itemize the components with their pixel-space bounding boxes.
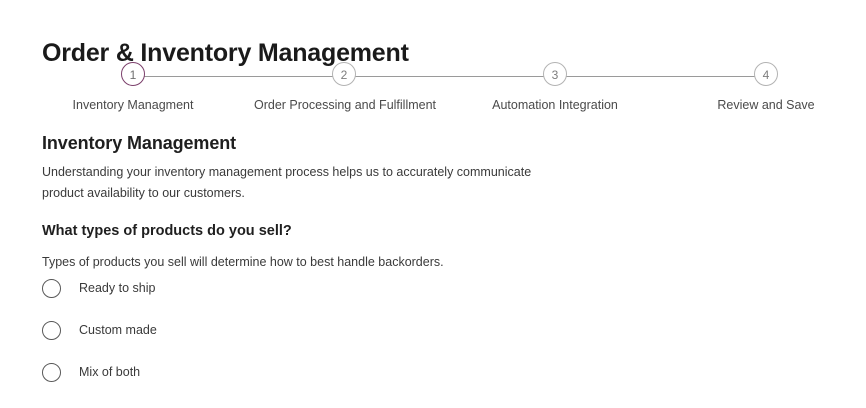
stepper-connector-line [133,76,766,77]
stepper-step-4-label: Review and Save [676,97,856,113]
stepper-step-3-label: Automation Integration [465,97,645,113]
radio-option-label: Custom made [79,323,157,338]
radio-circle-icon[interactable] [42,279,61,298]
stepper-step-1-label: Inventory Managment [43,97,223,113]
stepper-step-3[interactable]: 3 Automation Integration [465,62,645,113]
radio-option-label: Mix of both [79,365,140,380]
stepper-step-2-number: 2 [332,62,356,86]
product-types-radio-group[interactable]: Ready to ship Custom made Mix of both [42,278,442,383]
radio-circle-icon[interactable] [42,363,61,382]
page-root: Order & Inventory Management 1 Inventory… [0,0,866,408]
question-help-text: Types of products you sell will determin… [42,253,742,272]
radio-option-mix-of-both[interactable]: Mix of both [42,362,442,383]
stepper-step-1[interactable]: 1 Inventory Managment [43,62,223,113]
radio-option-label: Ready to ship [79,281,155,296]
stepper-step-4-number: 4 [754,62,778,86]
stepper-step-3-number: 3 [543,62,567,86]
question-title: What types of products do you sell? [42,222,742,241]
radio-option-custom-made[interactable]: Custom made [42,320,442,341]
section-title: Inventory Management [42,132,742,155]
radio-circle-icon[interactable] [42,321,61,340]
stepper-step-2[interactable]: 2 Order Processing and Fulfillment [254,62,434,113]
inventory-management-section: Inventory Management Understanding your … [42,132,742,204]
radio-option-ready-to-ship[interactable]: Ready to ship [42,278,442,299]
section-description: Understanding your inventory management … [42,162,542,203]
stepper-step-2-label: Order Processing and Fulfillment [254,97,434,113]
progress-stepper: 1 Inventory Managment 2 Order Processing… [0,62,866,120]
product-types-question: What types of products do you sell? Type… [42,222,742,272]
stepper-step-1-number: 1 [121,62,145,86]
stepper-step-4[interactable]: 4 Review and Save [676,62,856,113]
